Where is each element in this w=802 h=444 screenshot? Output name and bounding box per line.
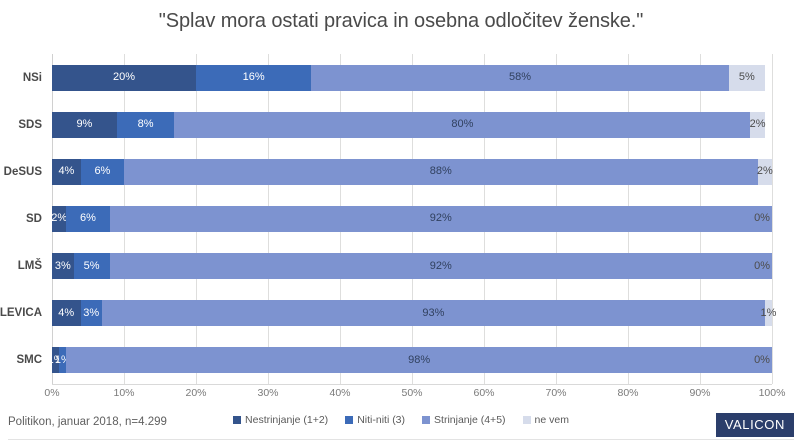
bar-value-label: 88% <box>430 166 452 177</box>
x-tick-label: 50% <box>401 387 422 399</box>
bar-value-label: 5% <box>84 261 100 272</box>
bar-value-label: 8% <box>138 119 154 130</box>
bar-row: 4%6%88%2% <box>52 148 772 195</box>
bar-segment: 6% <box>66 206 109 232</box>
bar-segment: 58% <box>311 65 729 91</box>
legend-item[interactable]: Nestrinjanje (1+2) <box>233 414 328 426</box>
bar-track-lmš: 3%5%92%0% <box>52 253 772 279</box>
bar-track-smc: 1%1%98%0% <box>52 347 772 373</box>
bar-segment: 6% <box>81 159 124 185</box>
legend-swatch-icon <box>233 416 241 424</box>
bar-value-label: 6% <box>80 213 96 224</box>
bar-value-label: 9% <box>76 119 92 130</box>
category-label-nsi: NSi <box>23 54 42 101</box>
gridline-100 <box>772 54 773 384</box>
legend-swatch-icon <box>523 416 531 424</box>
bar-segment: 8% <box>117 112 175 138</box>
bar-segment: 9% <box>52 112 117 138</box>
bar-segment: 1% <box>765 300 772 326</box>
bar-segment: 92% <box>110 206 772 232</box>
x-tick-label: 90% <box>689 387 710 399</box>
bar-row: 4%3%93%1% <box>52 290 772 337</box>
bar-segment: 2% <box>750 112 764 138</box>
category-label-sd: SD <box>26 195 42 242</box>
bar-segment: 5% <box>74 253 110 279</box>
bar-segment: 20% <box>52 65 196 91</box>
source-note: Politikon, januar 2018, n=4.299 <box>8 416 167 428</box>
bar-segment: 4% <box>52 159 81 185</box>
legend-item[interactable]: ne vem <box>523 414 569 426</box>
category-label-desus: DeSUS <box>4 148 42 195</box>
bottom-divider <box>8 439 794 440</box>
bar-row: 2%6%92%0% <box>52 195 772 242</box>
bar-segment: 5% <box>729 65 765 91</box>
legend-label: Nestrinjanje (1+2) <box>245 414 328 426</box>
chart-title: "Splav mora ostati pravica in osebna odl… <box>0 10 802 33</box>
bar-value-label: 58% <box>509 72 531 83</box>
bar-value-label: 20% <box>113 72 135 83</box>
bar-value-label: 2% <box>51 213 67 224</box>
bar-segment: 88% <box>124 159 758 185</box>
bar-track-desus: 4%6%88%2% <box>52 159 772 185</box>
bar-value-label: 98% <box>408 355 430 366</box>
bar-segment: 4% <box>52 300 81 326</box>
category-label-smc: SMC <box>16 337 42 384</box>
x-tick-label: 20% <box>185 387 206 399</box>
bar-track-nsi: 20%16%58%5% <box>52 65 772 91</box>
bar-value-label: 92% <box>430 213 452 224</box>
legend-label: Niti-niti (3) <box>357 414 405 426</box>
bar-segment: 16% <box>196 65 311 91</box>
bar-row: 9%8%80%2% <box>52 101 772 148</box>
bar-segment: 2% <box>758 159 772 185</box>
bar-segment: 3% <box>81 300 102 326</box>
category-label-sds: SDS <box>18 101 42 148</box>
bars-layer: 20%16%58%5%9%8%80%2%4%6%88%2%2%6%92%0%3%… <box>52 54 772 384</box>
x-tick-label: 30% <box>257 387 278 399</box>
bar-track-sd: 2%6%92%0% <box>52 206 772 232</box>
plot-area: 20%16%58%5%9%8%80%2%4%6%88%2%2%6%92%0%3%… <box>52 54 772 384</box>
bar-value-label: 4% <box>58 166 74 177</box>
x-tick-label: 70% <box>545 387 566 399</box>
bar-value-label: 3% <box>83 308 99 319</box>
bar-value-label: 93% <box>422 308 444 319</box>
bar-value-label: 16% <box>243 72 265 83</box>
bar-segment: 3% <box>52 253 74 279</box>
category-label-lmš: LMŠ <box>18 243 42 290</box>
bar-row: 1%1%98%0% <box>52 337 772 384</box>
bar-track-levica: 4%3%93%1% <box>52 300 772 326</box>
bar-value-label: 6% <box>94 166 110 177</box>
bar-segment: 1% <box>59 347 66 373</box>
chart-container: "Splav mora ostati pravica in osebna odl… <box>0 0 802 444</box>
bar-value-label: 2% <box>757 166 773 177</box>
bar-value-label: 5% <box>739 72 755 83</box>
bar-segment: 98% <box>66 347 772 373</box>
bar-value-label: 3% <box>55 261 71 272</box>
x-tick-label: 40% <box>329 387 350 399</box>
bar-value-label: 2% <box>750 119 766 130</box>
bar-segment: 93% <box>102 300 765 326</box>
bar-segment: 2% <box>52 206 66 232</box>
category-label-levica: LEVICA <box>0 290 42 337</box>
bar-row: 20%16%58%5% <box>52 54 772 101</box>
bar-segment: 1% <box>52 347 59 373</box>
x-tick-label: 100% <box>759 387 786 399</box>
category-axis: NSiSDSDeSUSSDLMŠLEVICASMC <box>0 54 48 384</box>
bar-segment: 80% <box>174 112 750 138</box>
legend-label: ne vem <box>535 414 569 426</box>
bar-track-sds: 9%8%80%2% <box>52 112 772 138</box>
x-tick-label: 0% <box>44 387 59 399</box>
x-tick-label: 10% <box>113 387 134 399</box>
legend-swatch-icon <box>422 416 430 424</box>
legend-swatch-icon <box>345 416 353 424</box>
x-axis-ticks: 0%10%20%30%40%50%60%70%80%90%100% <box>52 384 772 404</box>
x-tick-label: 60% <box>473 387 494 399</box>
bar-value-label: 4% <box>58 308 74 319</box>
bar-value-label: 92% <box>430 261 452 272</box>
bar-value-label: 80% <box>451 119 473 130</box>
legend-item[interactable]: Niti-niti (3) <box>345 414 405 426</box>
x-tick-label: 80% <box>617 387 638 399</box>
bar-row: 3%5%92%0% <box>52 243 772 290</box>
legend-item[interactable]: Strinjanje (4+5) <box>422 414 506 426</box>
bar-segment: 92% <box>110 253 772 279</box>
valicon-logo: VALICON <box>716 413 794 437</box>
legend-label: Strinjanje (4+5) <box>434 414 506 426</box>
